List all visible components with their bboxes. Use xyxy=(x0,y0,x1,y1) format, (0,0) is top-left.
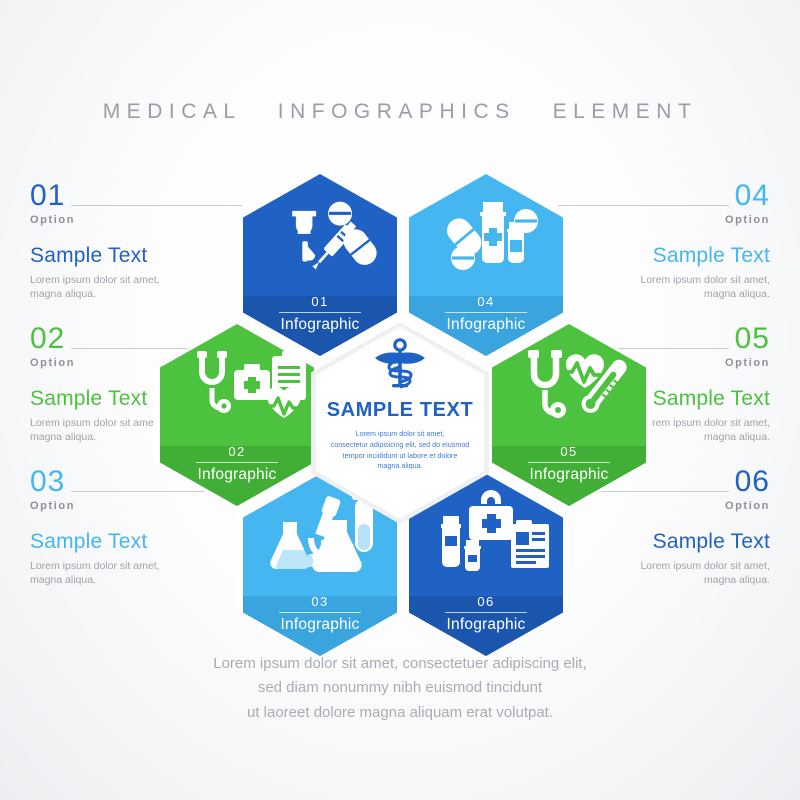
option-description: Lorem ipsum dolor sit amet, magna aliqua… xyxy=(558,273,770,303)
option-number: 06 xyxy=(735,468,770,498)
option-number: 02 xyxy=(30,325,65,355)
option-heading: Sample Text xyxy=(558,244,770,268)
option-number-row: 04 xyxy=(558,182,770,212)
option-number: 03 xyxy=(30,468,65,498)
option-subtitle: Option xyxy=(30,214,242,226)
footer-caption: Lorem ipsum dolor sit amet, consectetuer… xyxy=(0,652,800,725)
option-description: Lorem ipsum dolor sit amet, magna aliqua… xyxy=(30,273,242,303)
option-description: Lorem ipsum dolor sit amet, magna aliqua… xyxy=(558,559,770,589)
option-number-row: 01 xyxy=(30,182,242,212)
option-rule xyxy=(71,205,242,206)
option-number: 04 xyxy=(735,182,770,212)
page-title: MEDICAL INFOGRAPHICS ELEMENT xyxy=(0,100,800,124)
option-number: 01 xyxy=(30,182,65,212)
option-block-01[interactable]: 01 Option Sample Text Lorem ipsum dolor … xyxy=(30,182,242,302)
option-subtitle: Option xyxy=(558,214,770,226)
option-heading: Sample Text xyxy=(30,530,242,554)
option-description: Lorem ipsum dolor sit amet, magna aliqua… xyxy=(30,559,242,589)
infographic-canvas: MEDICAL INFOGRAPHICS ELEMENT 01 Option S… xyxy=(0,0,800,800)
option-heading: Sample Text xyxy=(558,530,770,554)
option-number: 05 xyxy=(735,325,770,355)
hex-tile-center[interactable]: SAMPLE TEXT Lorem ipsum dolor sit amet, … xyxy=(311,322,489,524)
option-block-04[interactable]: 04 Option Sample Text Lorem ipsum dolor … xyxy=(558,182,770,302)
option-heading: Sample Text xyxy=(30,244,242,268)
option-rule xyxy=(558,205,729,206)
